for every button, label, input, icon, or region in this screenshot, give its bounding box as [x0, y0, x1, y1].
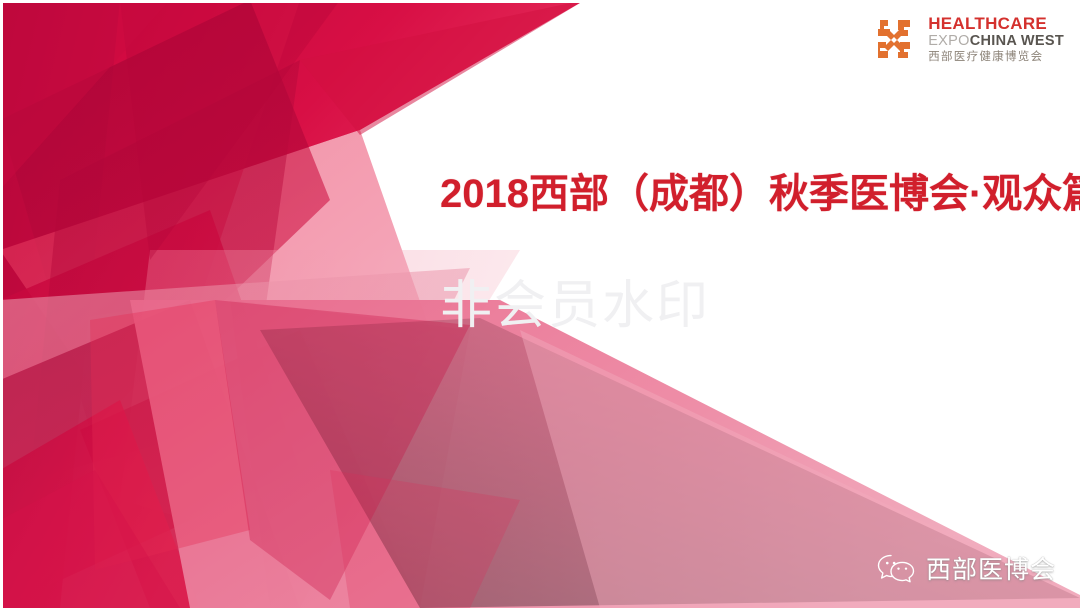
- expo-logo-line-chinese: 西部医疗健康博览会: [928, 52, 1064, 64]
- wechat-account-badge: 西部医博会: [876, 550, 1056, 586]
- page-title: 2018西部（成都）秋季医博会·观众篇: [440, 161, 1080, 219]
- expo-logo: HEALTHCARE EXPOCHINA WEST 西部医疗健康博览会: [869, 14, 1064, 64]
- expo-logo-line-expo-chinawest: EXPOCHINA WEST: [928, 34, 1064, 49]
- wechat-icon: [876, 552, 916, 584]
- slide-top-edge: [0, 0, 1080, 3]
- slide-left-edge: [0, 0, 3, 608]
- expo-logo-word-expo: EXPO: [928, 33, 970, 49]
- expo-logo-text: HEALTHCARE EXPOCHINA WEST 西部医疗健康博览会: [928, 15, 1064, 63]
- pinwheel-cross-icon: [869, 14, 919, 64]
- wechat-account-name: 西部医博会: [926, 550, 1056, 586]
- watermark-text: 非会员水印: [440, 263, 710, 338]
- expo-logo-line-healthcare: HEALTHCARE: [928, 15, 1064, 32]
- expo-logo-word-chinawest: CHINA WEST: [970, 33, 1064, 49]
- presentation-slide: 非会员水印 2018西部（成都）秋季医博会·观众篇 HEALTHC: [0, 0, 1080, 608]
